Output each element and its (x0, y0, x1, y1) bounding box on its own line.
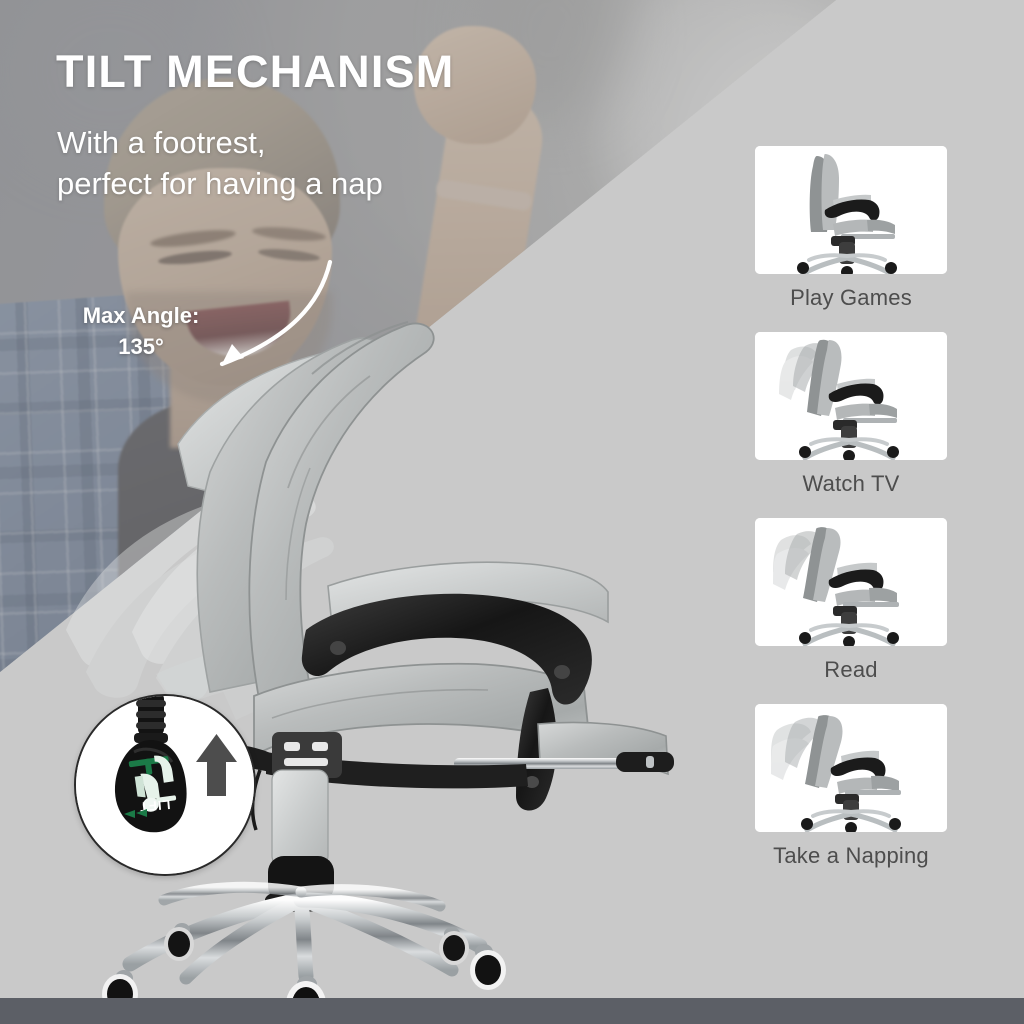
thumbnail-play-games[interactable] (755, 146, 947, 274)
thumbnail-watch-tv[interactable] (755, 332, 947, 460)
chair-caster (102, 970, 138, 1000)
thumbnail-read[interactable] (755, 518, 947, 646)
list-item[interactable]: Watch TV (755, 332, 947, 512)
thumbnail-take-a-napping[interactable] (755, 704, 947, 832)
chair-cylinder-cover (272, 770, 328, 866)
chair-caster (286, 976, 326, 1000)
footer-bar (0, 998, 1024, 1024)
list-item[interactable]: Play Games (755, 146, 947, 326)
lever-detail-lens: LIFT (74, 694, 256, 876)
page-subtitle: With a footrest, perfect for having a na… (57, 122, 577, 204)
chair-footrest-end-cap (616, 752, 674, 772)
list-item[interactable]: Read (755, 518, 947, 698)
page-title: TILT MECHANISM (56, 48, 696, 96)
page-subtitle-line-1: With a footrest, (57, 122, 577, 163)
lever-stem-icon (134, 696, 168, 743)
thumbnail-label: Watch TV (755, 460, 947, 512)
main-chair-illustration (60, 300, 720, 1000)
thumbnail-label: Read (755, 646, 947, 698)
infographic-canvas: TILT MECHANISM With a footrest, perfect … (0, 0, 1024, 1024)
thumbnail-label: Play Games (755, 274, 947, 326)
list-item[interactable]: Take a Napping (755, 704, 947, 884)
thumbnail-label: Take a Napping (755, 832, 947, 884)
chair-caster (470, 944, 506, 990)
page-subtitle-line-2: perfect for having a nap (57, 163, 577, 204)
use-case-thumbnail-list: Play Games (755, 146, 947, 890)
chair-caster (164, 923, 194, 961)
